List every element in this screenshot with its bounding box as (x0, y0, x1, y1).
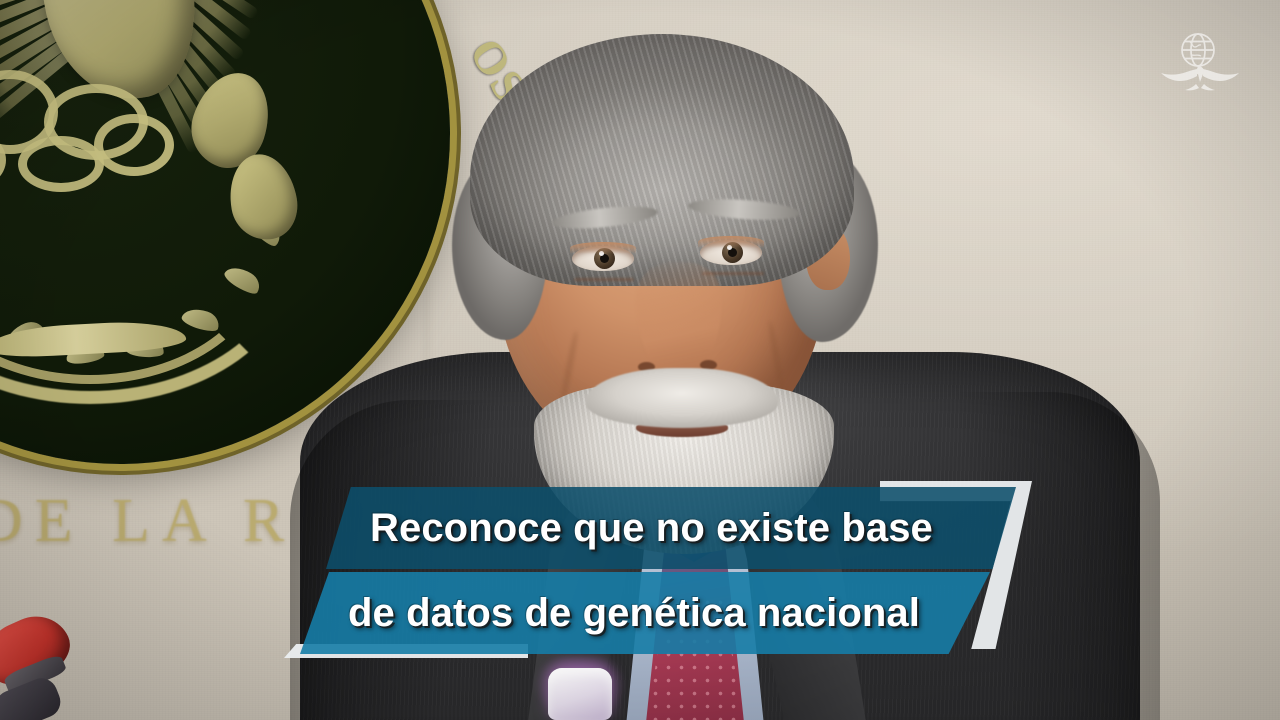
suit-right-shoulder-shadow (930, 392, 1160, 720)
moustache (586, 368, 778, 428)
person-portrait (0, 0, 1280, 720)
suit-left-shoulder-shadow (290, 400, 530, 720)
eyelid-right (698, 236, 764, 248)
microphone-center (548, 668, 612, 720)
under-eye-line-left (574, 278, 634, 281)
hair-texture (470, 34, 854, 286)
el-universal-logo (1148, 28, 1248, 100)
screenshot-root: OS DE LA R (0, 0, 1280, 720)
eyelid-left (570, 242, 636, 254)
